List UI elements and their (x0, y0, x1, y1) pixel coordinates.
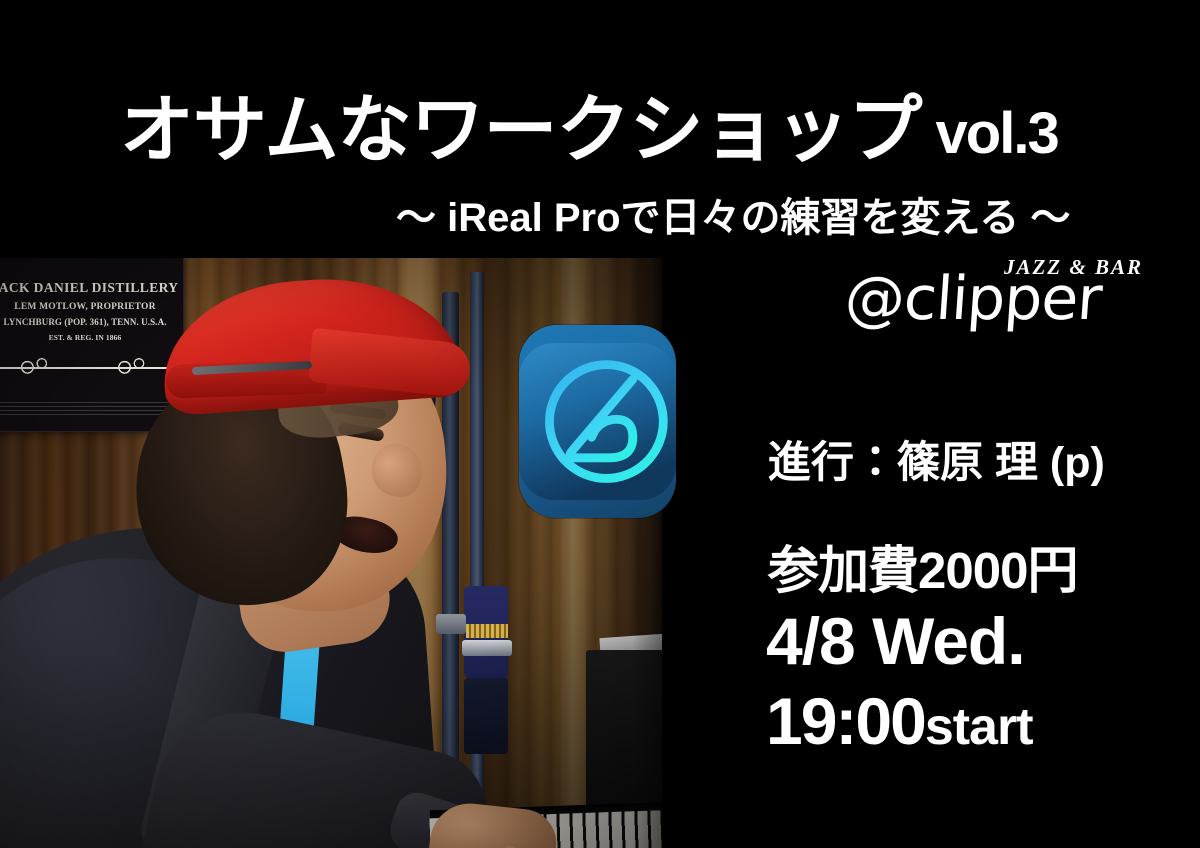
time-line: 19:00start (766, 688, 1033, 754)
venue-logo: JAZZ & BAR @clipper (845, 255, 1145, 350)
fee-line: 参加費2000円 (768, 545, 1077, 596)
page-title: オサムなワークショップvol.3 (120, 93, 1058, 167)
page-subtitle: 〜 iReal Proで日々の練習を変える 〜 (396, 198, 1070, 238)
ireal-pro-app-icon (519, 325, 676, 518)
date-line: 4/8 Wed. (766, 608, 1025, 674)
time-value: 19:00 (766, 684, 925, 758)
time-suffix: start (925, 698, 1033, 756)
host-line: 進行：篠原 理 (p) (768, 442, 1105, 485)
event-flyer-poster: JACK DANIEL DISTILLERY LEM MOTLOW, PROPR… (0, 0, 1200, 848)
venue-name: @clipper (843, 269, 1103, 329)
title-volume: vol.3 (936, 101, 1058, 166)
title-main-text: オサムなワークショップ (120, 88, 922, 171)
